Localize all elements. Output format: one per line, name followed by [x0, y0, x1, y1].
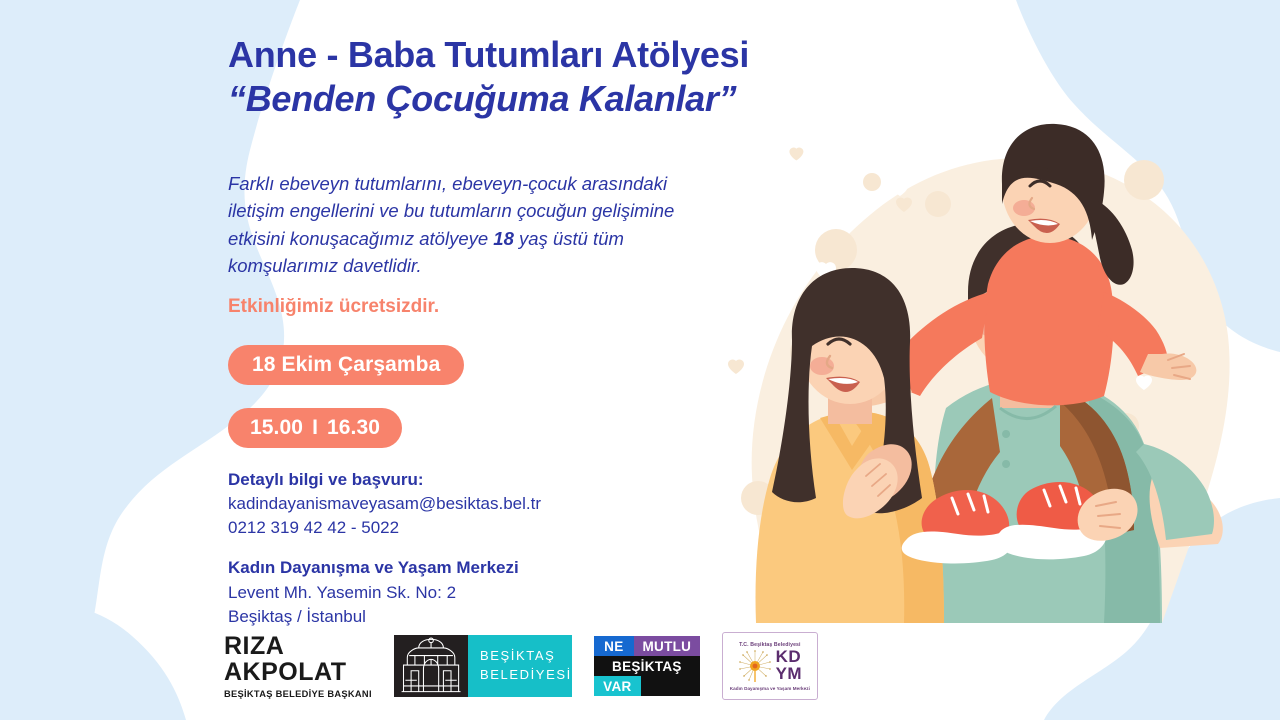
poster-content: Anne - Baba Tutumları Atölyesi “Benden Ç… — [0, 0, 1280, 720]
mayor-last-name: AKPOLAT — [224, 659, 372, 686]
kdym-letters: KD YM — [776, 649, 803, 681]
municipality-line-2: BELEDİYESİ — [480, 666, 572, 685]
event-time-badge: 15.00 I 16.30 — [228, 408, 402, 448]
municipality-wordmark: BEŞİKTAŞ BELEDİYESİ — [468, 635, 572, 697]
page-title: Anne - Baba Tutumları Atölyesi — [228, 34, 888, 76]
kdym-letters-ym: YM — [776, 666, 803, 682]
contact-spacer — [228, 540, 541, 556]
slogan-word-ne: NE — [594, 636, 634, 656]
slogan-row-3: VAR — [594, 676, 700, 696]
kdym-mid: KD YM — [738, 649, 803, 683]
poster-canvas: Anne - Baba Tutumları Atölyesi “Benden Ç… — [0, 0, 1280, 720]
municipality-line-1: BEŞİKTAŞ — [480, 647, 572, 666]
slogan-row-1: NE MUTLU — [594, 636, 700, 656]
organization-name: Kadın Dayanışma ve Yaşam Merkezi — [228, 556, 541, 580]
event-date-badge: 18 Ekim Çarşamba — [228, 345, 464, 385]
logo-municipality: BEŞİKTAŞ BELEDİYESİ — [394, 635, 572, 697]
dolmabahce-gate-svg — [394, 635, 468, 697]
slogan-word-mutlu: MUTLU — [634, 636, 700, 656]
mayor-first-name: RIZA — [224, 634, 372, 659]
slogan-word-besiktas: BEŞİKTAŞ — [594, 656, 700, 676]
page-subtitle: “Benden Çocuğuma Kalanlar” — [228, 78, 888, 120]
time-start: 15.00 — [250, 416, 303, 440]
logo-slogan: NE MUTLU BEŞİKTAŞ VAR — [594, 636, 700, 696]
contact-heading: Detaylı bilgi ve başvuru: — [228, 468, 541, 492]
time-end: 16.30 — [327, 416, 380, 440]
kdym-bottom-text: Kadın Dayanışma ve Yaşam Merkezi — [730, 686, 810, 691]
time-separator: I — [303, 416, 327, 440]
free-event-note: Etkinliğimiz ücretsizdir. — [228, 296, 439, 318]
contact-block: Detaylı bilgi ve başvuru: kadindayanisma… — [228, 468, 541, 629]
logo-mayor: RIZA AKPOLAT BEŞİKTAŞ BELEDİYE BAŞKANI — [224, 634, 372, 699]
dandelion-icon — [738, 649, 772, 683]
slogan-word-var: VAR — [594, 676, 641, 696]
address-line-2: Beşiktaş / İstanbul — [228, 605, 541, 629]
contact-phone[interactable]: 0212 319 42 42 - 5022 — [228, 516, 541, 540]
mayor-title: BEŞİKTAŞ BELEDİYE BAŞKANI — [224, 689, 372, 699]
address-line-1: Levent Mh. Yasemin Sk. No: 2 — [228, 581, 541, 605]
description-text: Farklı ebeveyn tutumlarını, ebeveyn-çocu… — [228, 170, 728, 280]
title-block: Anne - Baba Tutumları Atölyesi “Benden Ç… — [228, 34, 888, 121]
slogan-spacer — [641, 676, 700, 696]
contact-email[interactable]: kadindayanismaveyasam@besiktas.bel.tr — [228, 492, 541, 516]
dolmabahce-gate-icon — [394, 635, 468, 697]
logo-strip: RIZA AKPOLAT BEŞİKTAŞ BELEDİYE BAŞKANI — [224, 632, 818, 700]
logo-kdym: T.C. Beşiktaş Belediyesi — [722, 632, 818, 700]
slogan-row-2: BEŞİKTAŞ — [594, 656, 700, 676]
